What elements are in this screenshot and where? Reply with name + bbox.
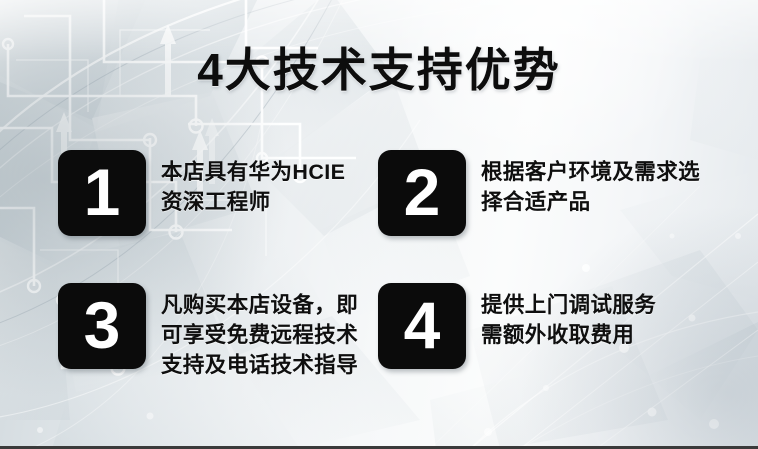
advantage-text-3: 凡购买本店设备，即 可享受免费远程技术 支持及电话技术指导 (161, 283, 358, 380)
advantage-text-2: 根据客户环境及需求选 择合适产品 (481, 150, 700, 217)
advantage-item-3: 3 凡购买本店设备，即 可享受免费远程技术 支持及电话技术指导 (58, 283, 358, 380)
page-title: 4大技术支持优势 (0, 34, 758, 100)
advantage-number-badge-4: 4 (378, 283, 466, 369)
advantage-text-line: 择合适产品 (481, 187, 700, 217)
advantage-text-line: 资深工程师 (161, 187, 345, 217)
advantage-item-1: 1 本店具有华为HCIE 资深工程师 (58, 150, 345, 236)
promo-poster: 4大技术支持优势 1 本店具有华为HCIE 资深工程师 2 根据客户环境及需求选… (0, 0, 758, 449)
advantage-item-2: 2 根据客户环境及需求选 择合适产品 (378, 150, 700, 236)
advantage-item-4: 4 提供上门调试服务 需额外收取费用 (378, 283, 656, 369)
advantage-text-line: 凡购买本店设备，即 (161, 290, 358, 320)
advantage-text-1: 本店具有华为HCIE 资深工程师 (161, 150, 345, 217)
advantage-text-line: 支持及电话技术指导 (161, 350, 358, 380)
advantages-grid: 1 本店具有华为HCIE 资深工程师 2 根据客户环境及需求选 择合适产品 3 … (58, 150, 718, 386)
advantage-text-line: 提供上门调试服务 (481, 290, 656, 320)
advantage-text-4: 提供上门调试服务 需额外收取费用 (481, 283, 656, 350)
advantage-text-line: 需额外收取费用 (481, 320, 656, 350)
advantage-text-line: 可享受免费远程技术 (161, 320, 358, 350)
advantage-number-badge-2: 2 (378, 150, 466, 236)
advantage-text-line: 本店具有华为HCIE (161, 157, 345, 187)
advantage-number-badge-1: 1 (58, 150, 146, 236)
advantage-text-line: 根据客户环境及需求选 (481, 157, 700, 187)
advantage-number-badge-3: 3 (58, 283, 146, 369)
